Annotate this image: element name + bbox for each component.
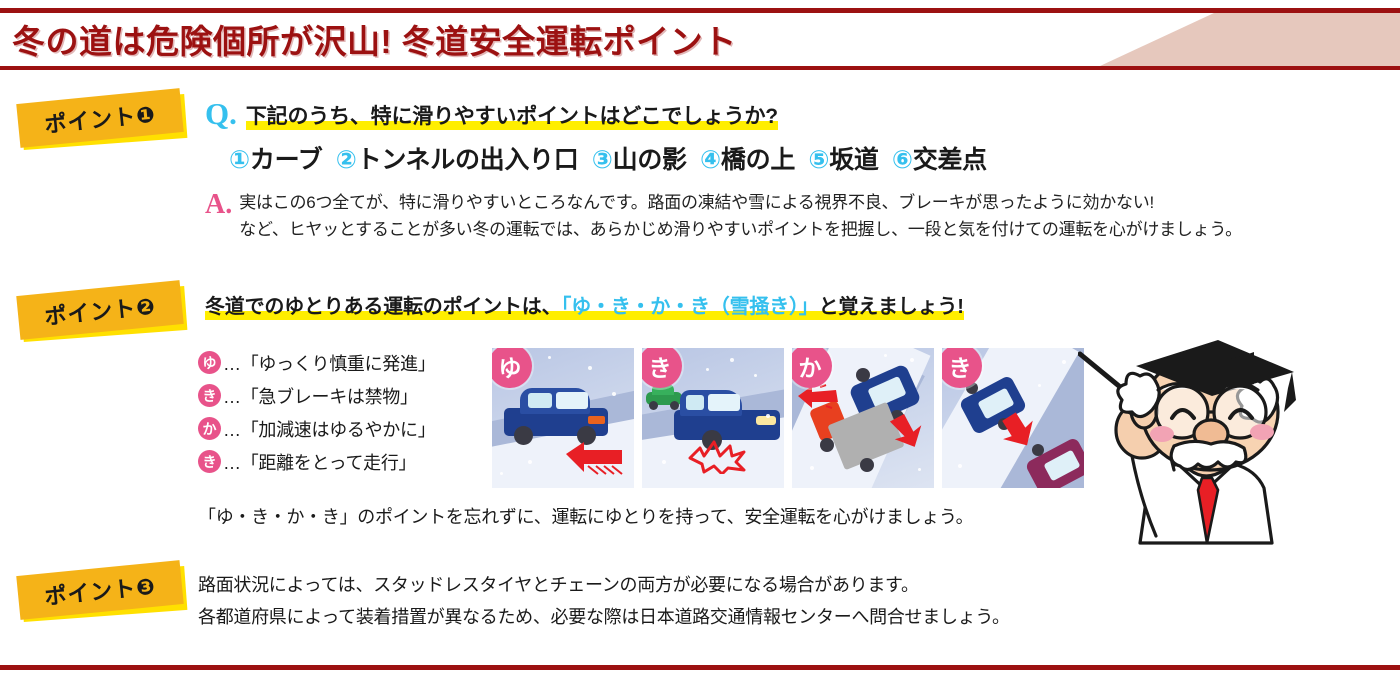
bullet-kana-badge: ゆ	[198, 351, 221, 374]
truck-wheel-front	[820, 438, 834, 452]
answer-mark-label: A.	[205, 190, 232, 219]
choice-number-6: ⑥	[892, 146, 913, 174]
snow-dot	[810, 466, 814, 470]
infographic-page: 冬の道は危険個所が沢山! 冬道安全運転ポイント ポイント❶ Q. 下記のうち、特…	[0, 0, 1400, 679]
snow-dot	[528, 460, 532, 464]
choice-label-3: 山の影	[613, 146, 687, 174]
question-text: 下記のうち、特に滑りやすいポイントはどこでしょうか?	[246, 105, 778, 130]
section-1-qa: Q. 下記のうち、特に滑りやすいポイントはどこでしょうか? ①カーブ ②トンネル…	[205, 98, 1395, 244]
answer-line: A. 実はこの6つ全てが、特に滑りやすいところなんです。路面の凍結や雪による視界…	[205, 190, 1395, 244]
cheek-left	[1150, 426, 1174, 442]
snow-dot	[588, 366, 592, 370]
page-title: 冬の道は危険個所が沢山! 冬道安全運転ポイント	[12, 15, 737, 63]
yukikaki-bullet-list: ゆ …「ゆっくり慎重に発進」 き …「急ブレーキは禁物」 か …「加減速はゆるや…	[198, 346, 488, 478]
car-window-rear	[528, 393, 552, 408]
header-decoration-shape	[1100, 13, 1400, 66]
section-2-heading-post: と覚えましょう!	[819, 296, 964, 318]
snow-dot	[662, 460, 666, 464]
answer-text: 実はこの6つ全てが、特に滑りやすいところなんです。路面の凍結や雪による視界不良、…	[239, 190, 1242, 244]
snow-dot	[918, 468, 921, 471]
choice-number-5: ⑤	[808, 146, 829, 174]
illustration-panel-ka: か	[792, 348, 934, 488]
question-mark-label: Q.	[205, 98, 237, 130]
choice-label-4: 橋の上	[721, 146, 795, 174]
choice-number-3: ③	[592, 146, 613, 174]
section-3-line-1: 路面状況によっては、スタッドレスタイヤとチェーンの両方が必要になる場合があります…	[198, 570, 1010, 602]
list-item: か …「加減速はゆるやかに」	[198, 412, 488, 445]
mustache	[1171, 441, 1246, 469]
badge-point-3: ポイント❸	[18, 568, 186, 616]
choice-number-1: ①	[229, 146, 250, 174]
snow-dot	[706, 368, 709, 371]
illustration-panel-group: ゆ	[492, 348, 1084, 488]
section-2-footer-text: 「ゆ・き・か・き」のポイントを忘れずに、運転にゆとりを持って、安全運転を心がけま…	[198, 503, 973, 529]
choice-label-6: 交差点	[913, 146, 987, 174]
badge-point-1: ポイント❶	[18, 96, 186, 144]
list-item: き …「急ブレーキは禁物」	[198, 379, 488, 412]
car-taillight	[588, 416, 605, 424]
snow-dot	[910, 358, 914, 362]
snow-dot	[548, 356, 551, 359]
choice-label-5: 坂道	[829, 146, 878, 174]
snow-dot	[884, 354, 887, 357]
illustration-panel-ki-1: き	[642, 348, 784, 488]
bullet-kana-badge: き	[198, 384, 221, 407]
arrow-distance-icon	[996, 410, 1042, 452]
truck-wheel-rear	[860, 458, 874, 472]
snow-dot	[754, 374, 757, 377]
badge-point-2: ポイント❷	[18, 288, 186, 336]
section-3-body: 路面状況によっては、スタッドレスタイヤとチェーンの両方が必要になる場合があります…	[198, 570, 1010, 633]
question-line: Q. 下記のうち、特に滑りやすいポイントはどこでしょうか?	[205, 98, 1395, 130]
car-window-front	[556, 392, 588, 409]
snow-dot	[958, 464, 962, 468]
skid-burst-icon	[684, 440, 748, 474]
car-wheel-rear	[649, 401, 658, 410]
choice-label-1: カーブ	[250, 146, 323, 174]
choices-list: ①カーブ ②トンネルの出入り口 ③山の影 ④橋の上 ⑤坂道 ⑥交差点	[229, 140, 1395, 176]
car-blue	[504, 386, 608, 444]
snow-dot	[612, 392, 616, 396]
illustration-panel-yu: ゆ	[492, 348, 634, 488]
bullet-text: …「距離をとって走行」	[223, 449, 416, 475]
snow-dot	[500, 472, 503, 475]
bullet-text: …「急ブレーキは禁物」	[223, 383, 418, 409]
answer-text-line-2: など、ヒヤッとすることが多い冬の運転では、あらかじめ滑りやすいポイントを把握し、…	[239, 217, 1242, 244]
car-wheel-rear	[856, 368, 870, 382]
arrow-start-icon	[564, 440, 626, 476]
choice-label-2: トンネルの出入り口	[357, 146, 579, 174]
list-item: ゆ …「ゆっくり慎重に発進」	[198, 346, 488, 379]
bullet-text: …「ゆっくり慎重に発進」	[223, 350, 435, 376]
footer-rule	[0, 665, 1400, 670]
snow-dot	[1062, 360, 1066, 364]
bullet-kana-badge: き	[198, 450, 221, 473]
arrow-decelerate-icon	[796, 384, 842, 410]
section-2-heading-highlight: 「ゆ・き・か・き（雪掻き）」	[561, 296, 818, 318]
professor-character	[1078, 338, 1400, 548]
section-3-line-2: 各都道府県によって装着措置が異なるため、必要な際は日本道路交通情報センターへ問合…	[198, 602, 1010, 634]
choice-number-2: ②	[336, 146, 357, 174]
bullet-kana-badge: か	[198, 417, 221, 440]
header-bar: 冬の道は危険個所が沢山! 冬道安全運転ポイント	[0, 8, 1400, 70]
car-window-side	[686, 395, 704, 410]
hair-left	[1118, 373, 1159, 416]
list-item: き …「距離をとって走行」	[198, 445, 488, 478]
bullet-text: …「加減速はゆるやかに」	[223, 416, 435, 442]
answer-text-line-1: 実はこの6つ全てが、特に滑りやすいところなんです。路面の凍結や雪による視界不良、…	[239, 190, 1242, 217]
section-2-heading: 冬道でのゆとりある運転のポイントは、「ゆ・き・か・き（雪掻き）」と覚えましょう!	[205, 290, 964, 320]
illustration-panel-ki-2: き	[942, 348, 1084, 488]
snow-dot	[1038, 384, 1041, 387]
section-2-heading-pre: 冬道でのゆとりある運転のポイントは、	[205, 296, 561, 318]
choice-number-4: ④	[700, 146, 721, 174]
car-windshield	[708, 394, 740, 411]
graduation-cap-tassel	[1284, 372, 1296, 412]
snow-dot	[730, 358, 734, 362]
car-blue	[674, 388, 780, 448]
cheek-right	[1250, 424, 1274, 440]
snow-dot	[766, 414, 770, 418]
car-wheel-rear	[514, 426, 533, 445]
arrow-accelerate-icon	[890, 410, 934, 448]
professor-illustration	[1078, 338, 1400, 548]
